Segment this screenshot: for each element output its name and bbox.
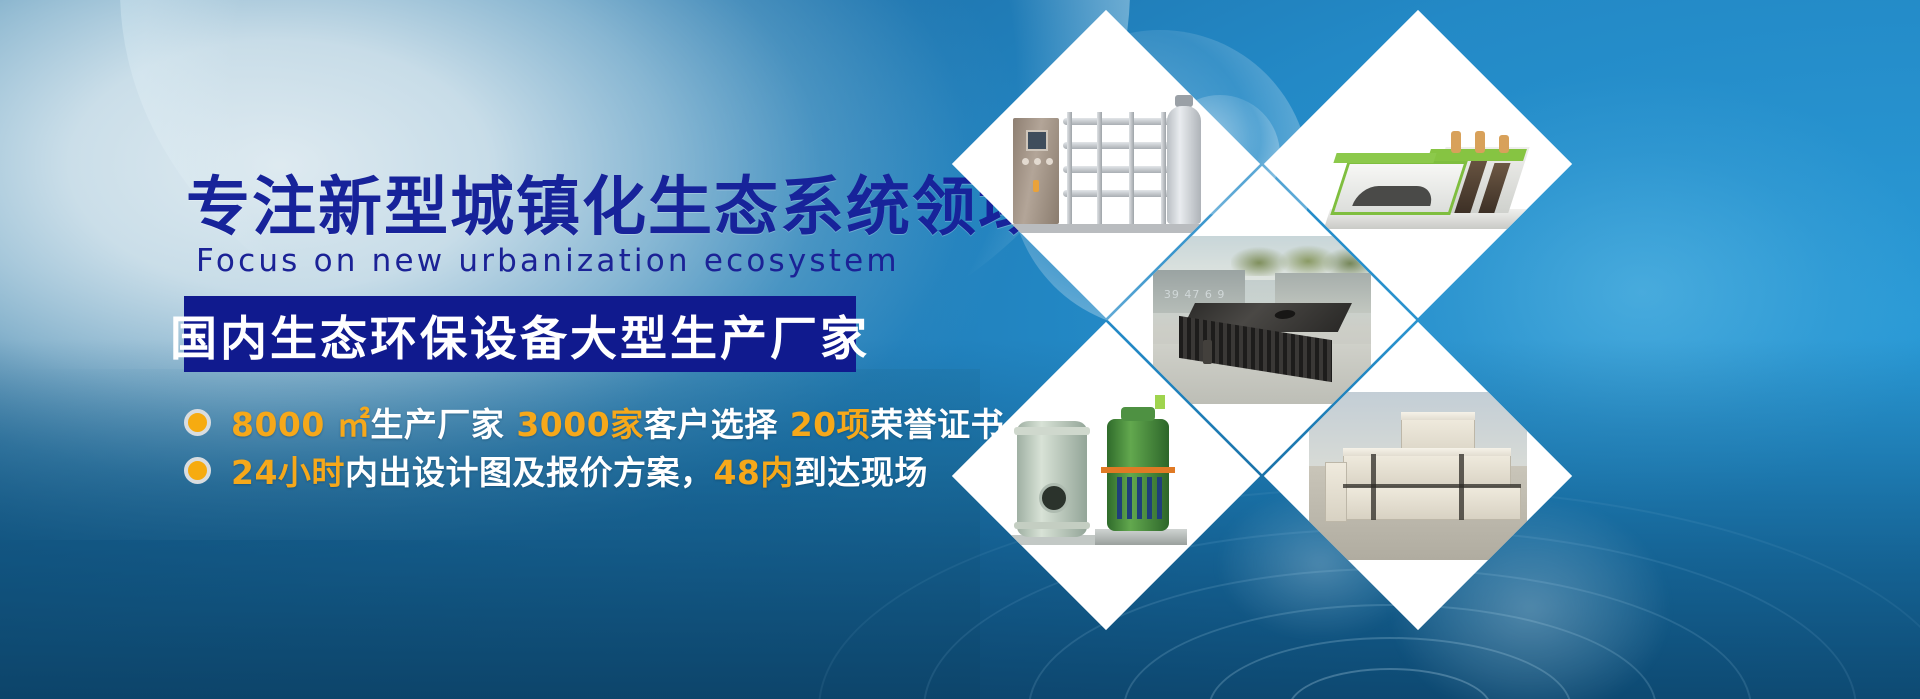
product-image-frp-tank-pump-station xyxy=(997,391,1215,561)
bullet-plain-segment: 内出设计图及报价方案， xyxy=(345,453,714,492)
banner-bullet-item: 8000 ㎡生产厂家 3000家客户选择 20项荣誉证书 xyxy=(184,398,904,446)
banner-bullet-list: 8000 ㎡生产厂家 3000家客户选择 20项荣誉证书24小时内出设计图及报价… xyxy=(184,398,904,494)
circle-dot-icon xyxy=(184,457,211,484)
bullet-highlight-segment: 3000家 xyxy=(516,405,643,444)
product-image-buried-storage-tank: 39 47 6 9 xyxy=(1153,236,1371,404)
bullet-highlight-segment: 48内 xyxy=(713,453,793,492)
product-image-sewage-treatment-model xyxy=(1309,79,1527,249)
banner-subheadline: Focus on new urbanization ecosystem xyxy=(196,246,900,277)
bullet-highlight-segment: 8000 ㎡ xyxy=(231,405,370,444)
banner-bullet-item: 24小时内出设计图及报价方案，48内到达现场 xyxy=(184,446,904,494)
product-image-reverse-osmosis-skid xyxy=(997,79,1215,249)
banner-highlight-box: 国内生态环保设备大型生产厂家 xyxy=(184,296,856,372)
product-image-wall-panel-stack xyxy=(1309,392,1527,560)
circle-dot-icon xyxy=(184,409,211,436)
banner-bullet-text: 24小时内出设计图及报价方案，48内到达现场 xyxy=(231,446,928,494)
bullet-plain-segment: 客户选择 xyxy=(644,405,790,444)
promo-banner: 专注新型城镇化生态系统领域 Focus on new urbanization … xyxy=(0,0,1920,699)
banner-bullet-text: 8000 ㎡生产厂家 3000家客户选择 20项荣誉证书 xyxy=(231,398,1004,446)
bullet-highlight-segment: 20项 xyxy=(790,405,870,444)
bullet-plain-segment: 生产厂家 xyxy=(370,405,516,444)
bullet-highlight-segment: 24小时 xyxy=(231,453,345,492)
product-diamond-gallery: 39 47 6 9 xyxy=(905,55,1915,585)
photo-watermark: 39 47 6 9 xyxy=(1164,286,1225,303)
banner-text-column: 专注新型城镇化生态系统领域 Focus on new urbanization … xyxy=(0,0,900,699)
banner-highlight-box-text: 国内生态环保设备大型生产厂家 xyxy=(170,300,870,369)
